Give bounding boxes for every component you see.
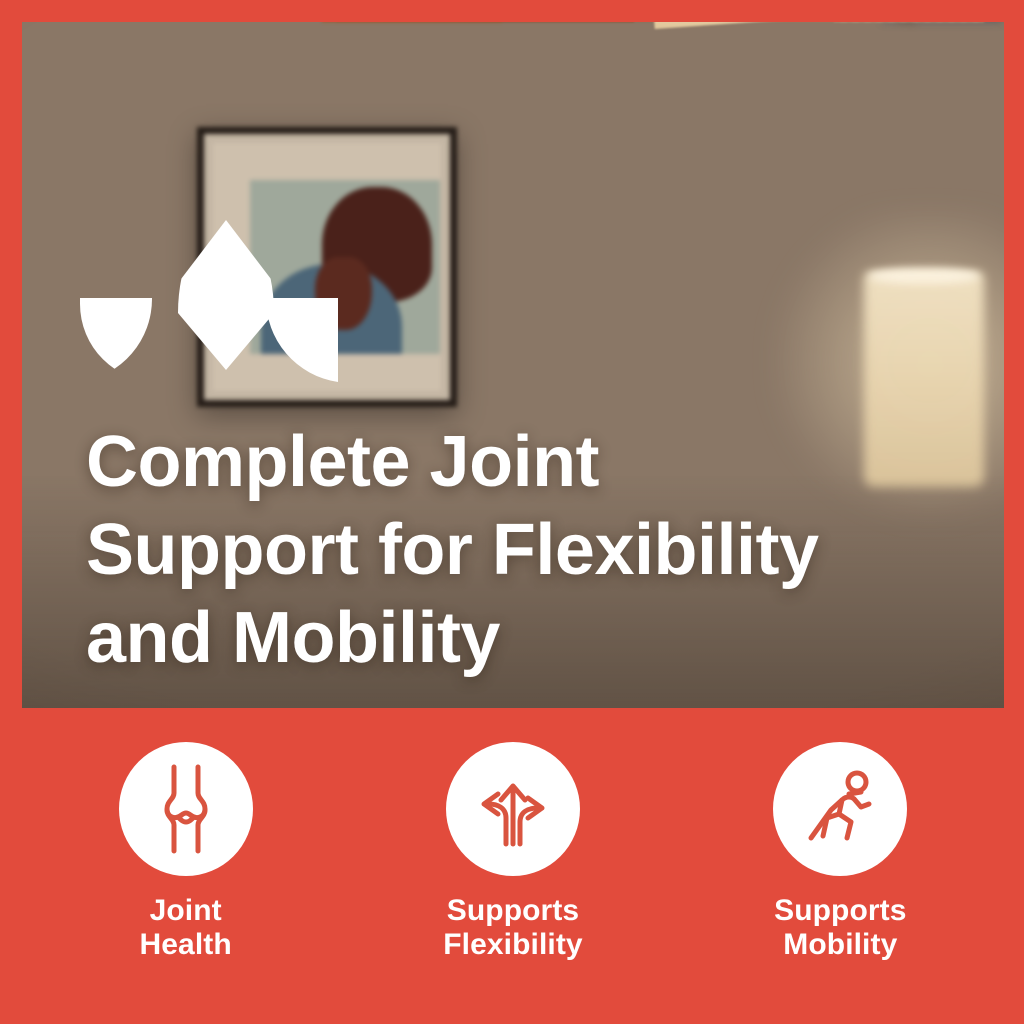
feature-item-joint-health: Joint Health <box>66 742 306 962</box>
headline-line-1: Complete Joint <box>86 418 886 506</box>
feature-label-line-2: Mobility <box>774 928 906 962</box>
headline: Complete Joint Support for Flexibility a… <box>86 418 886 682</box>
feature-label-line-2: Flexibility <box>443 928 582 962</box>
feature-item-supports-flexibility: Supports Flexibility <box>393 742 633 962</box>
running-person-icon <box>797 766 883 852</box>
brand-logo <box>80 220 338 384</box>
three-way-arrows-icon <box>470 766 556 852</box>
feature-label-line-1: Supports <box>443 894 582 928</box>
feature-label: Supports Flexibility <box>443 894 582 962</box>
bone-joint-icon <box>147 763 225 855</box>
feature-label: Joint Health <box>140 894 232 962</box>
feature-label-line-2: Health <box>140 928 232 962</box>
feature-icon-circle <box>446 742 580 876</box>
product-ad-banner: Complete Joint Support for Flexibility a… <box>0 0 1024 1024</box>
lamp-shade-top <box>868 268 980 284</box>
feature-item-supports-mobility: Supports Mobility <box>720 742 960 962</box>
headline-line-3: and Mobility <box>86 594 886 682</box>
feature-label-line-1: Joint <box>140 894 232 928</box>
logo-petal-center-icon <box>178 220 274 370</box>
feature-icon-circle <box>119 742 253 876</box>
feature-label-line-1: Supports <box>774 894 906 928</box>
feature-list: Joint Health Supports Flexibility <box>22 742 1004 1000</box>
headline-line-2: Support for Flexibility <box>86 506 886 594</box>
chair-leg <box>897 22 933 23</box>
hero-photo: Complete Joint Support for Flexibility a… <box>22 22 1004 708</box>
feature-icon-circle <box>773 742 907 876</box>
woman-shirt <box>634 22 864 29</box>
feature-label: Supports Mobility <box>774 894 906 962</box>
